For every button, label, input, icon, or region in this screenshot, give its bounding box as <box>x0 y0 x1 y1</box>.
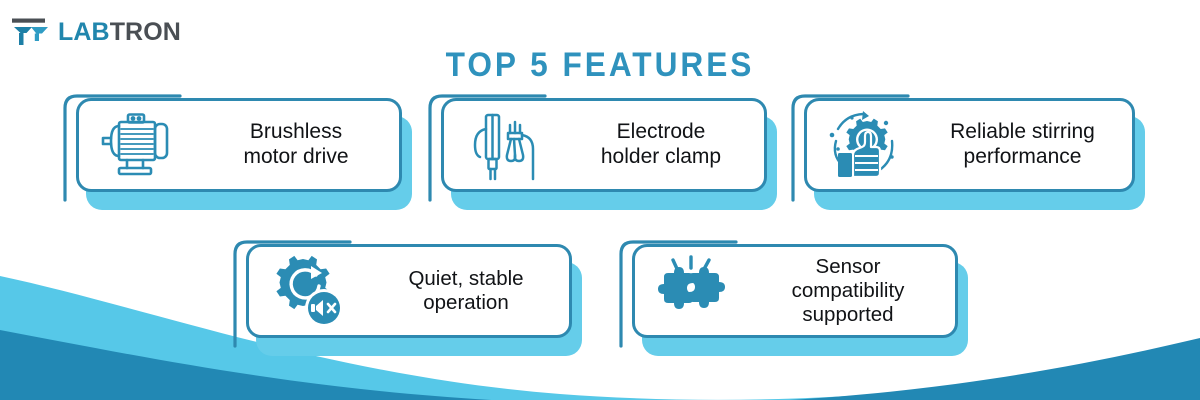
electric-motor-icon <box>79 112 199 178</box>
feature-card-3-body[interactable]: Reliable stirring performance <box>804 98 1135 192</box>
gear-thumbs-up-rotation-icon <box>807 107 919 183</box>
feature-card-3[interactable]: Reliable stirring performance <box>790 92 1145 210</box>
feature-card-4-label: Quiet, stable operation <box>369 267 569 315</box>
labtron-logo-mark-icon <box>10 16 52 48</box>
background-wave-decoration <box>0 180 1200 400</box>
brand-wordmark: LABTRON <box>58 20 181 45</box>
feature-card-1-label: Brushless motor drive <box>199 120 399 170</box>
feature-card-2-body[interactable]: Electrode holder clamp <box>441 98 767 192</box>
feature-card-4[interactable]: Quiet, stable operation <box>232 238 582 356</box>
brand-lab-text: LAB <box>58 18 110 46</box>
electrode-holder-clamp-icon <box>444 107 564 183</box>
feature-card-1[interactable]: Brushless motor drive <box>62 92 412 210</box>
brand-logo: LABTRON <box>10 16 181 48</box>
page-title: TOP 5 FEATURES <box>42 46 1158 85</box>
feature-card-2[interactable]: Electrode holder clamp <box>427 92 777 210</box>
infographic-canvas: LABTRON TOP 5 FEATURES <box>0 0 1200 400</box>
feature-card-4-body[interactable]: Quiet, stable operation <box>246 244 572 338</box>
feature-card-5-label: Sensor compatibility supported <box>747 255 955 328</box>
feature-card-2-label: Electrode holder clamp <box>564 120 764 170</box>
feature-card-5-body[interactable]: Sensor compatibility supported <box>632 244 958 338</box>
feature-card-1-body[interactable]: Brushless motor drive <box>76 98 402 192</box>
brand-tron-text: TRON <box>110 18 181 46</box>
feature-card-5[interactable]: Sensor compatibility supported <box>618 238 968 356</box>
puzzle-pieces-icon <box>635 255 747 327</box>
gear-mute-speaker-icon <box>249 253 369 329</box>
feature-card-3-label: Reliable stirring performance <box>919 120 1132 170</box>
